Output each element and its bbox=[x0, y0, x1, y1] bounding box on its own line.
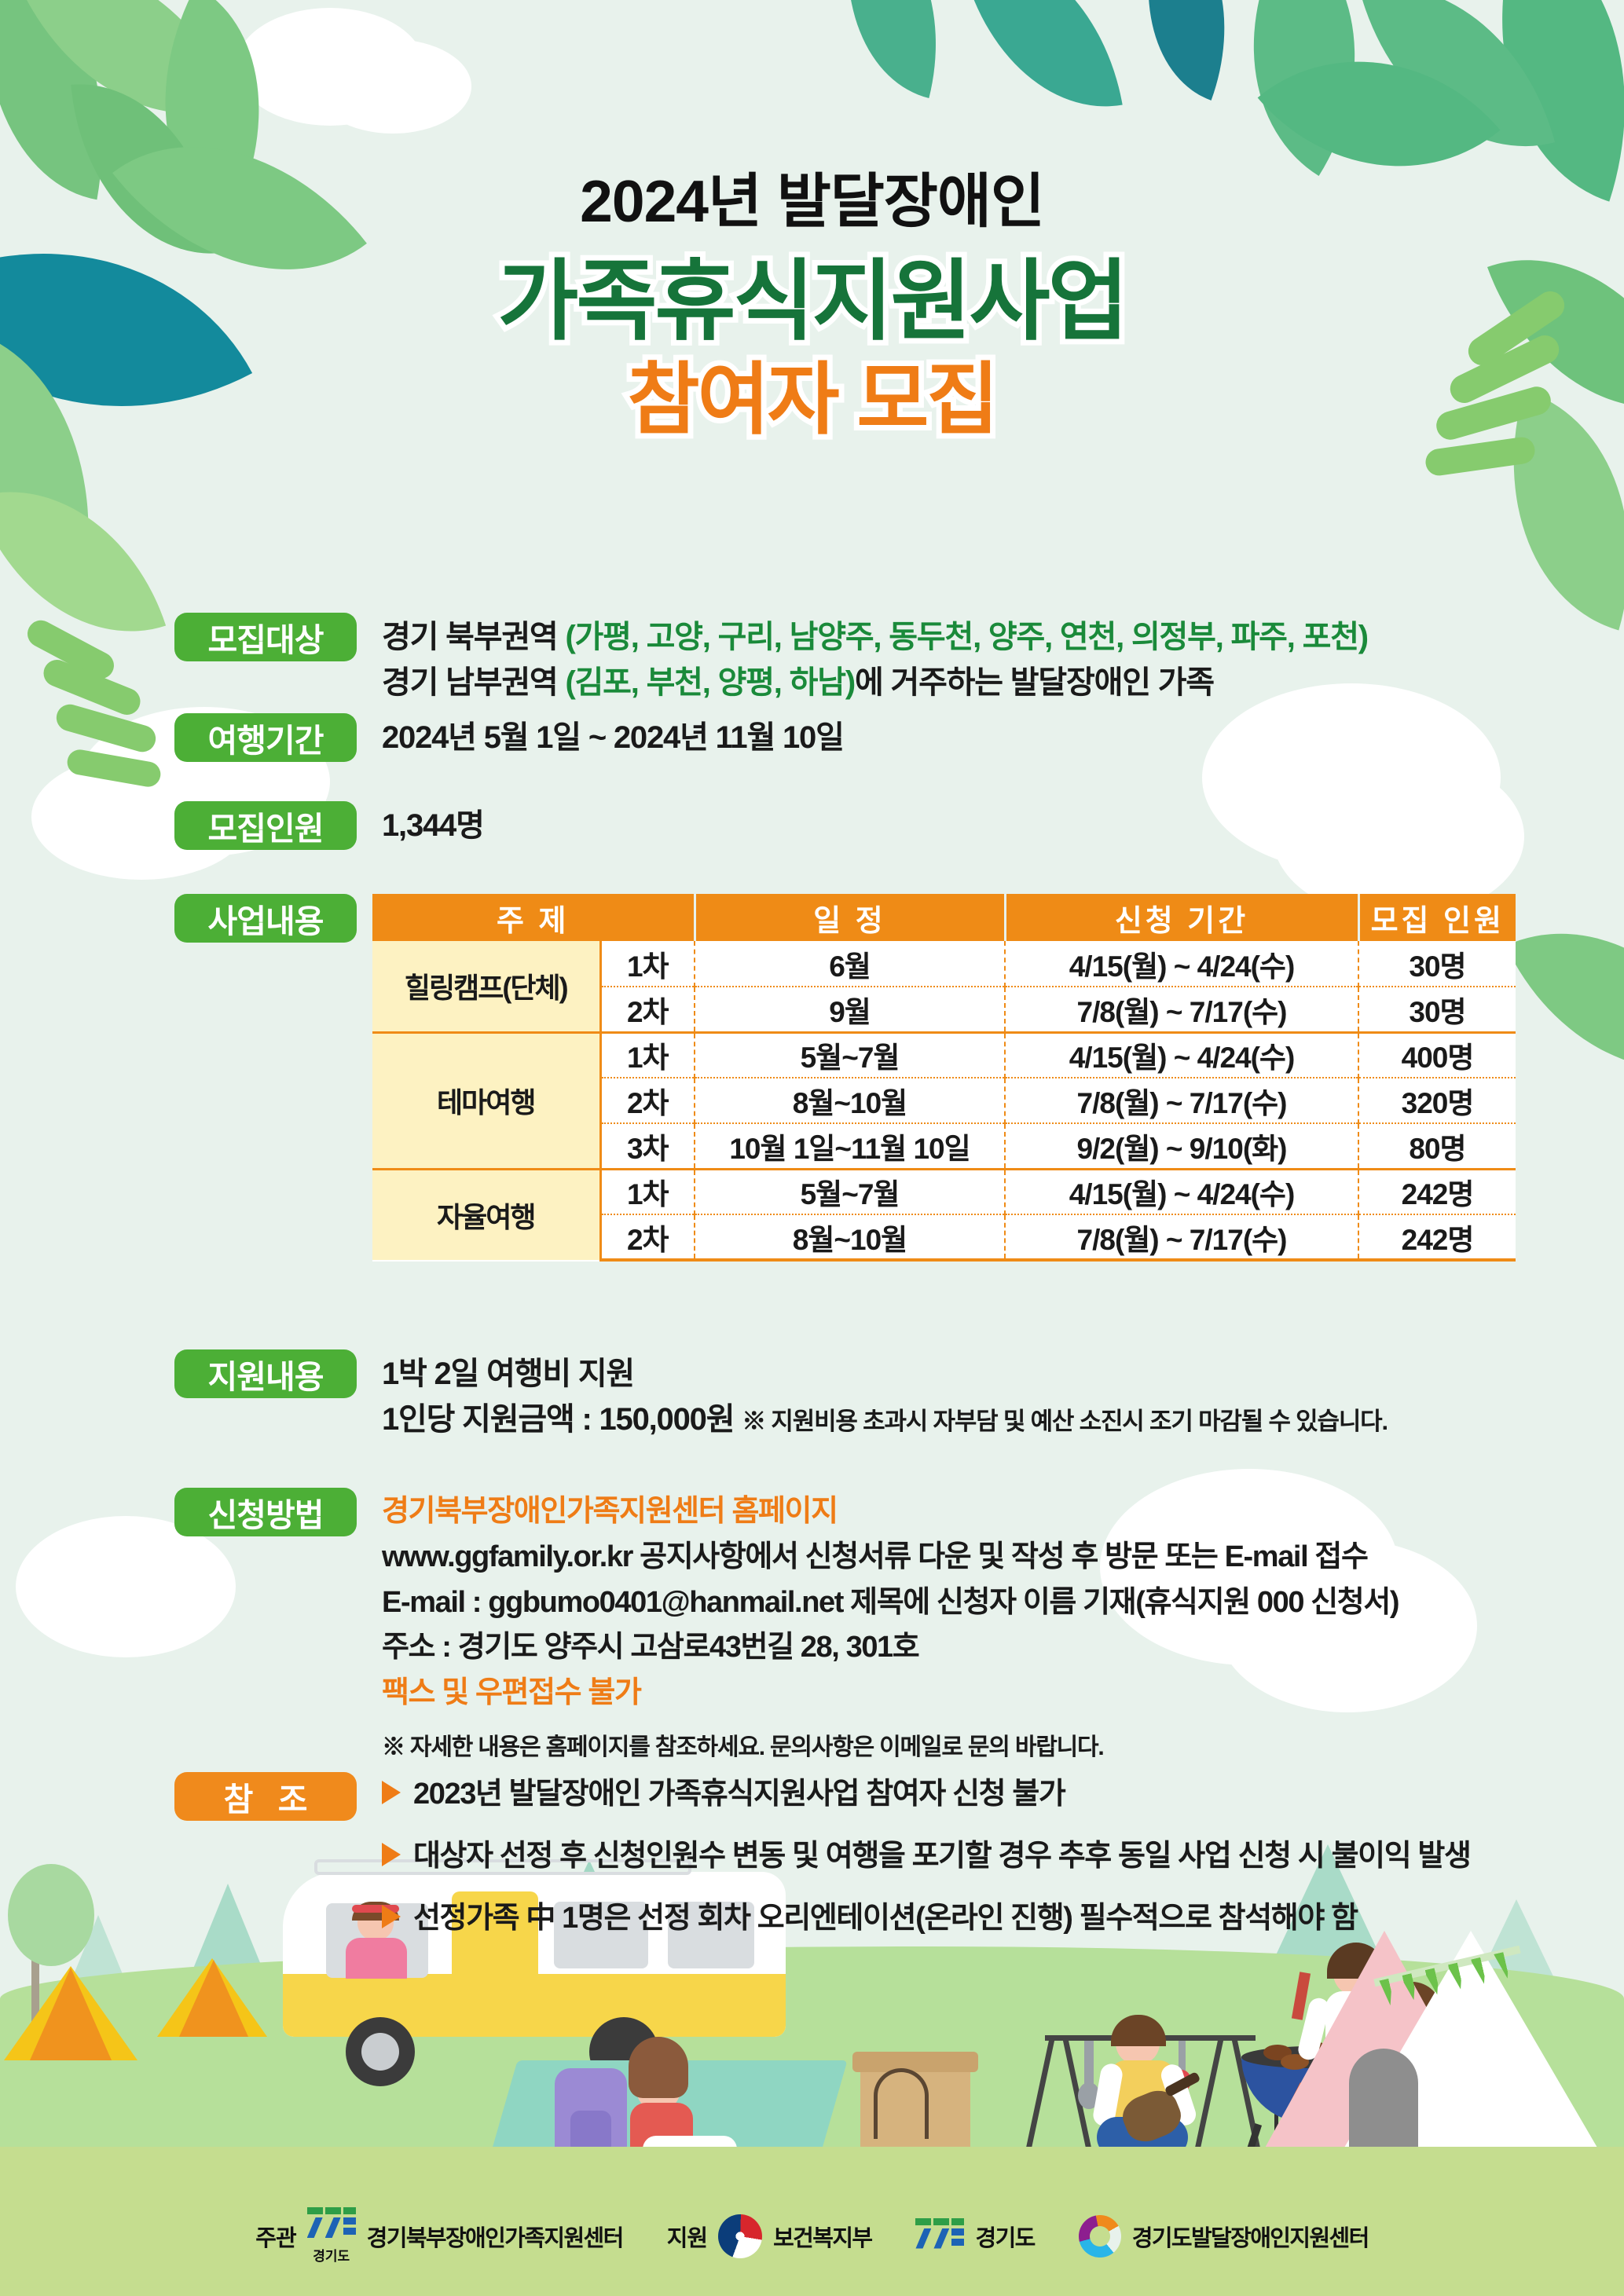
row-apply-body: 경기북부장애인가족지원센터 홈페이지 www.ggfamily.or.kr 공지… bbox=[382, 1488, 1399, 1762]
apply-email-label: E-mail bbox=[382, 1586, 465, 1619]
label-apply: 신청방법 bbox=[174, 1488, 357, 1536]
cell-schedule: 5월~7월 bbox=[695, 1032, 1005, 1078]
cell-round: 1차 bbox=[600, 1032, 695, 1078]
triangle-bullet-icon bbox=[382, 1781, 401, 1804]
cooler-lid bbox=[852, 2052, 978, 2072]
cell-subject: 자율여행 bbox=[372, 1169, 600, 1260]
target-line-1-prefix: 경기 북부권역 bbox=[382, 620, 565, 654]
center-name: 경기도발달장애인지원센터 bbox=[1132, 2220, 1369, 2253]
th-subject: 주 제 bbox=[372, 894, 695, 941]
note-item-text: 대상자 선정 후 신청인원수 변동 및 여행을 포기할 경우 추후 동일 사업 … bbox=[413, 1836, 1471, 1877]
note-item: 선정가족 中 1명은 선정 회차 오리엔테이션(온라인 진행) 필수적으로 참석… bbox=[382, 1898, 1471, 1939]
host-sub: 경기도 bbox=[313, 2245, 350, 2265]
footer-gyeonggi: 경기도 bbox=[915, 2218, 1034, 2254]
leaf-shape bbox=[15, 0, 237, 163]
cell-apply: 4/15(월) ~ 4/24(수) bbox=[1005, 1032, 1358, 1078]
support-caution: ※ 지원비용 초과시 자부담 및 예산 소진시 조기 마감될 수 있습니다. bbox=[742, 1408, 1388, 1435]
target-line-1: 경기 북부권역 (가평, 고양, 구리, 남양주, 동두천, 양주, 연천, 의… bbox=[382, 614, 1368, 660]
person-hair bbox=[629, 2037, 688, 2098]
label-period: 여행기간 bbox=[174, 713, 357, 762]
leaf-shape bbox=[1360, 0, 1555, 181]
cell-apply: 4/15(월) ~ 4/24(수) bbox=[1005, 1169, 1358, 1214]
label-note: 참 조 bbox=[174, 1772, 357, 1821]
host-name: 경기북부장애인가족지원센터 bbox=[367, 2220, 623, 2253]
cell-apply: 7/8(월) ~ 7/17(수) bbox=[1005, 987, 1358, 1032]
cell-round: 1차 bbox=[600, 1169, 695, 1214]
support-line-2: 1인당 지원금액 : 150,000원 ※ 지원비용 초과시 자부담 및 예산 … bbox=[382, 1397, 1388, 1442]
table-row: 자율여행 1차 5월~7월 4/15(월) ~ 4/24(수) 242명 bbox=[372, 1169, 1516, 1214]
count-value: 1,344명 bbox=[382, 803, 484, 848]
poster-canvas: 2024년 발달장애인 가족휴식지원사업 참여자 모집 모집대상 경기 북부권역… bbox=[0, 0, 1624, 2296]
leaf-shape bbox=[1108, 0, 1265, 101]
apply-address-label: 주소 bbox=[382, 1631, 434, 1664]
gyeonggi-logo-icon bbox=[915, 2218, 964, 2254]
footer-support: 지원 보건복지부 bbox=[667, 2214, 872, 2258]
cooler-handle bbox=[874, 2068, 929, 2139]
gyeonggi-logo-icon bbox=[307, 2207, 356, 2243]
host-label: 주관 bbox=[255, 2220, 295, 2253]
cell-round: 2차 bbox=[600, 1214, 695, 1260]
tent-shape bbox=[179, 1960, 248, 2037]
leaf-shape bbox=[1186, 0, 1423, 176]
table-header-row: 주 제 일 정 신청 기간 모집 인원 bbox=[372, 894, 1516, 941]
label-target: 모집대상 bbox=[174, 613, 357, 661]
cell-apply: 9/2(월) ~ 9/10(화) bbox=[1005, 1123, 1358, 1169]
target-line-2-suffix: 에 거주하는 발달장애인 가족 bbox=[855, 665, 1214, 700]
support-label: 지원 bbox=[667, 2220, 707, 2253]
cell-schedule: 6월 bbox=[695, 941, 1005, 987]
support-name: 보건복지부 bbox=[773, 2220, 871, 2253]
row-support: 지원내용 1박 2일 여행비 지원 1인당 지원금액 : 150,000원 ※ … bbox=[0, 1349, 1388, 1442]
support-line-1: 1박 2일 여행비 지원 bbox=[382, 1351, 1388, 1397]
cell-schedule: 8월~10월 bbox=[695, 1214, 1005, 1260]
cell-capacity: 30명 bbox=[1358, 941, 1516, 987]
program-table: 주 제 일 정 신청 기간 모집 인원 힐링캠프(단체) 1차 6월 4/15(… bbox=[372, 894, 1516, 1262]
tent-shape bbox=[30, 1968, 112, 2060]
label-program: 사업내용 bbox=[174, 894, 357, 943]
row-note-body: 2023년 발달장애인 가족휴식지원사업 참여자 신청 불가 대상자 선정 후 … bbox=[382, 1772, 1471, 1961]
cloud-shape bbox=[236, 8, 424, 126]
title-year: 2024년 발달장애인 bbox=[0, 169, 1624, 234]
apply-website-line[interactable]: www.ggfamily.or.kr 공지사항에서 신청서류 다운 및 작성 후… bbox=[382, 1535, 1399, 1580]
cell-subject: 테마여행 bbox=[372, 1032, 600, 1169]
title-sub: 참여자 모집 bbox=[0, 355, 1624, 445]
label-support: 지원내용 bbox=[174, 1349, 357, 1398]
footer-logos: 주관 경기도 경기북부장애인가족지원센터 지원 보건복지부 경기도 경기도발달장… bbox=[0, 2207, 1624, 2265]
cell-schedule: 8월~10월 bbox=[695, 1078, 1005, 1123]
leaf-shape bbox=[959, 0, 1122, 128]
footer-center: 경기도발달장애인지원센터 bbox=[1079, 2215, 1369, 2258]
van-hubcap bbox=[361, 2033, 399, 2071]
cell-capacity: 30명 bbox=[1358, 987, 1516, 1032]
apply-address-value: : 경기도 양주시 고삼로43번길 28, 301호 bbox=[434, 1631, 918, 1664]
table-row: 힐링캠프(단체) 1차 6월 4/15(월) ~ 4/24(수) 30명 bbox=[372, 941, 1516, 987]
row-count-body: 1,344명 bbox=[382, 801, 484, 848]
cell-round: 3차 bbox=[600, 1123, 695, 1169]
row-count: 모집인원 1,344명 bbox=[0, 801, 484, 850]
cell-schedule: 5월~7월 bbox=[695, 1169, 1005, 1214]
leaf-shape bbox=[1506, 879, 1624, 1123]
gyeonggi-name: 경기도 bbox=[975, 2220, 1034, 2253]
th-capacity: 모집 인원 bbox=[1358, 894, 1516, 941]
cell-schedule: 10월 1일~11월 10일 bbox=[695, 1123, 1005, 1169]
row-apply: 신청방법 경기북부장애인가족지원센터 홈페이지 www.ggfamily.or.… bbox=[0, 1488, 1399, 1762]
target-line-2: 경기 남부권역 (김포, 부천, 양평, 하남)에 거주하는 발달장애인 가족 bbox=[382, 660, 1368, 705]
cloud-shape bbox=[1202, 683, 1501, 872]
table-row: 테마여행 1차 5월~7월 4/15(월) ~ 4/24(수) 400명 bbox=[372, 1032, 1516, 1078]
support-amount: 1인당 지원금액 : 150,000원 bbox=[382, 1402, 742, 1437]
note-item-text: 2023년 발달장애인 가족휴식지원사업 참여자 신청 불가 bbox=[413, 1774, 1065, 1815]
apply-fax-notice: 팩스 및 우편접수 불가 bbox=[382, 1671, 1399, 1716]
row-period-body: 2024년 5월 1일 ~ 2024년 11월 10일 bbox=[382, 713, 844, 760]
target-line-2-prefix: 경기 남부권역 bbox=[382, 665, 565, 700]
target-line-2-regions: (김포, 부천, 양평, 하남) bbox=[565, 665, 855, 700]
title-main: 가족휴식지원사업 bbox=[0, 251, 1624, 353]
cell-apply: 7/8(월) ~ 7/17(수) bbox=[1005, 1078, 1358, 1123]
row-program: 사업내용 주 제 일 정 신청 기간 모집 인원 bbox=[0, 894, 1516, 1262]
cell-round: 1차 bbox=[600, 941, 695, 987]
cell-apply: 4/15(월) ~ 4/24(수) bbox=[1005, 941, 1358, 987]
cell-capacity: 80명 bbox=[1358, 1123, 1516, 1169]
cell-apply: 7/8(월) ~ 7/17(수) bbox=[1005, 1214, 1358, 1260]
row-target: 모집대상 경기 북부권역 (가평, 고양, 구리, 남양주, 동두천, 양주, … bbox=[0, 613, 1368, 705]
th-schedule: 일 정 bbox=[695, 894, 1005, 941]
row-target-body: 경기 북부권역 (가평, 고양, 구리, 남양주, 동두천, 양주, 연천, 의… bbox=[382, 613, 1368, 705]
leaf-shape bbox=[815, 0, 969, 98]
apply-address-line: 주소 : 경기도 양주시 고삼로43번길 28, 301호 bbox=[382, 1625, 1399, 1671]
apply-email-line[interactable]: E-mail : ggbumo0401@hanmail.net 제목에 신청자 … bbox=[382, 1580, 1399, 1626]
apply-footnote: ※ 자세한 내용은 홈페이지를 참조하세요. 문의사항은 이메일로 문의 바랍니… bbox=[382, 1727, 1399, 1762]
cell-capacity: 400명 bbox=[1358, 1032, 1516, 1078]
cell-capacity: 242명 bbox=[1358, 1169, 1516, 1214]
big-tent bbox=[1255, 1931, 1608, 2166]
triangle-bullet-icon bbox=[382, 1843, 401, 1866]
row-support-body: 1박 2일 여행비 지원 1인당 지원금액 : 150,000원 ※ 지원비용 … bbox=[382, 1349, 1388, 1442]
cell-subject: 힐링캠프(단체) bbox=[372, 941, 600, 1032]
th-apply-period: 신청 기간 bbox=[1005, 894, 1358, 941]
label-count: 모집인원 bbox=[174, 801, 357, 850]
apply-email-value: : ggbumo0401@hanmail.net 제목에 신청자 이름 기재(휴… bbox=[465, 1586, 1399, 1619]
cell-round: 2차 bbox=[600, 1078, 695, 1123]
cloud-shape bbox=[314, 39, 471, 134]
poster-title-block: 2024년 발달장애인 가족휴식지원사업 참여자 모집 bbox=[0, 169, 1624, 445]
mohw-logo-icon bbox=[718, 2214, 762, 2258]
center-logo-icon bbox=[1079, 2215, 1121, 2258]
program-table-wrap: 주 제 일 정 신청 기간 모집 인원 힐링캠프(단체) 1차 6월 4/15(… bbox=[372, 892, 1516, 1262]
apply-homepage-title: 경기북부장애인가족지원센터 홈페이지 bbox=[382, 1489, 1399, 1535]
row-period: 여행기간 2024년 5월 1일 ~ 2024년 11월 10일 bbox=[0, 713, 844, 762]
row-note: 참 조 2023년 발달장애인 가족휴식지원사업 참여자 신청 불가 대상자 선… bbox=[0, 1772, 1471, 1961]
target-line-1-regions: (가평, 고양, 구리, 남양주, 동두천, 양주, 연천, 의정부, 파주, … bbox=[565, 620, 1367, 654]
cell-capacity: 242명 bbox=[1358, 1214, 1516, 1260]
triangle-bullet-icon bbox=[382, 1905, 401, 1928]
cell-capacity: 320명 bbox=[1358, 1078, 1516, 1123]
footer-host: 주관 경기도 경기북부장애인가족지원센터 bbox=[255, 2207, 622, 2265]
period-value: 2024년 5월 1일 ~ 2024년 11월 10일 bbox=[382, 715, 844, 760]
note-item: 대상자 선정 후 신청인원수 변동 및 여행을 포기할 경우 추후 동일 사업 … bbox=[382, 1836, 1471, 1877]
cell-schedule: 9월 bbox=[695, 987, 1005, 1032]
note-item-text: 선정가족 中 1명은 선정 회차 오리엔테이션(온라인 진행) 필수적으로 참석… bbox=[413, 1898, 1358, 1939]
cell-round: 2차 bbox=[600, 987, 695, 1032]
note-item: 2023년 발달장애인 가족휴식지원사업 참여자 신청 불가 bbox=[382, 1774, 1471, 1815]
